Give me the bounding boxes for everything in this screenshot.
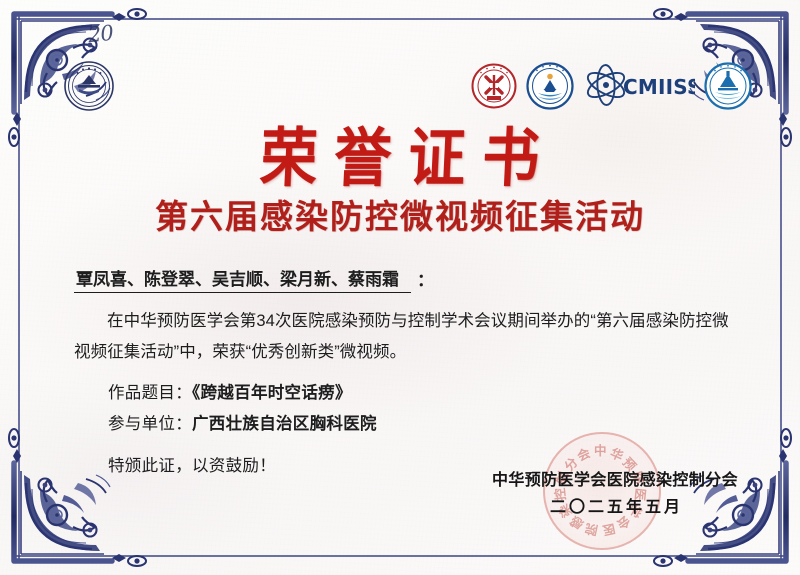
recipient-names-row: 覃凤喜、陈登翠、吴吉顺、梁月新、蔡雨霜 ：: [74, 266, 434, 293]
certificate-subtitle: 第六届感染防控微视频征集活动: [0, 190, 800, 238]
logo-row-right: CMIISS: [471, 58, 752, 114]
work-unit-value: 广西壮族自治区胸科医院: [192, 415, 377, 433]
certificate-body: 在中华预防医学会第34次医院感染预防与控制学术会议期间举办的“第六届感染防控微视…: [74, 306, 734, 368]
blue-circular-emblem-figure-icon: [526, 62, 574, 110]
body-paragraph: 在中华预防医学会第34次医院感染预防与控制学术会议期间举办的“第六届感染防控微视…: [74, 306, 734, 368]
recipient-colon: ：: [411, 266, 434, 293]
issuing-organization: 中华预防医学会医院感染控制分会: [470, 468, 760, 494]
certificate-main-title: 荣誉证书: [0, 107, 800, 199]
cpma-emblem-icon: [63, 60, 115, 112]
work-unit-line: 参与单位：广西壮族自治区胸科医院: [108, 410, 377, 434]
corner-ornament-bottom-left: [9, 429, 146, 566]
handwritten-mark: 20: [87, 21, 114, 47]
work-unit-label: 参与单位：: [108, 415, 192, 433]
issue-date: 二〇二五年五月: [470, 494, 760, 522]
closing-statement: 特颁此证，以资鼓励！: [108, 452, 276, 476]
cmiiss-atom-logo-icon: CMIISS: [583, 64, 695, 108]
work-title-value: 《跨越百年时空话痨》: [192, 384, 352, 402]
cmiiss-logo-text: CMIISS: [623, 75, 695, 99]
blue-circular-emblem-building-icon: [704, 62, 752, 110]
work-title-line: 作品题目：《跨越百年时空话痨》: [108, 379, 352, 403]
logo-cpma-left: [63, 60, 115, 112]
certificate-document: 20: [0, 0, 800, 575]
recipient-names: 覃凤喜、陈登翠、吴吉顺、梁月新、蔡雨霜: [74, 269, 411, 293]
red-circular-emblem-icon: [471, 63, 517, 109]
signature-block: 中华预防医学会医院感染控制分会 二〇二五年五月: [470, 468, 760, 522]
work-title-label: 作品题目：: [108, 384, 192, 402]
